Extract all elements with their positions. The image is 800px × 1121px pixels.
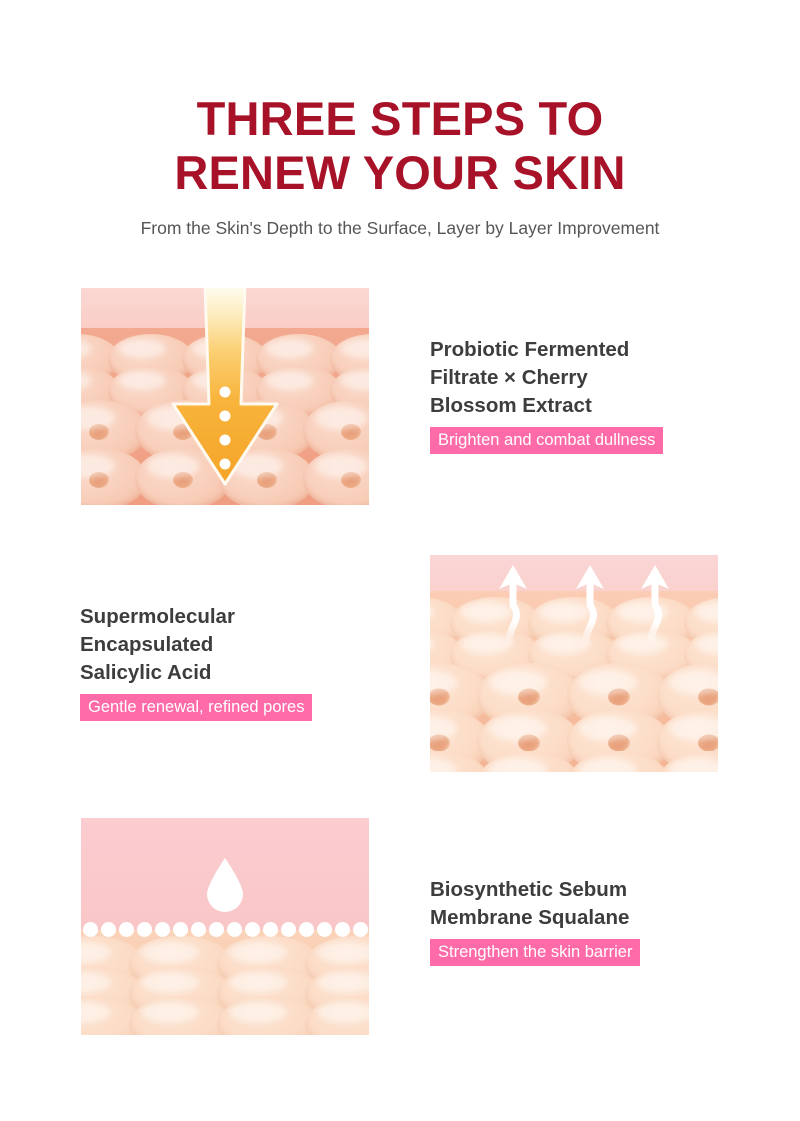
page-title-line-2: RENEW YOUR SKIN [0, 146, 800, 200]
step-3-heading: Biosynthetic Sebum Membrane Squalane [430, 876, 730, 932]
step-2-heading: Supermolecular Encapsulated Salicylic Ac… [80, 603, 380, 687]
page-title-line-1: THREE STEPS TO [0, 92, 800, 146]
wavy-arrows-up-icon [430, 555, 718, 772]
step-3-illustration [81, 818, 369, 1035]
step-3-badge: Strengthen the skin barrier [430, 939, 640, 966]
step-2-text-block: Supermolecular Encapsulated Salicylic Ac… [80, 603, 380, 721]
page-subtitle: From the Skin's Depth to the Surface, La… [0, 217, 800, 239]
step-2-illustration [430, 555, 718, 772]
step-1-illustration [81, 288, 369, 505]
step-2-badge: Gentle renewal, refined pores [80, 694, 312, 721]
arrow-down-icon [161, 288, 289, 505]
step-1-heading: Probiotic Fermented Filtrate × Cherry Bl… [430, 336, 730, 420]
page-header: THREE STEPS TO RENEW YOUR SKIN From the … [0, 92, 800, 239]
step-1-badge: Brighten and combat dullness [430, 427, 663, 454]
water-droplet-icon [203, 856, 247, 912]
skin-barrier-row [81, 922, 369, 937]
step-3-text-block: Biosynthetic Sebum Membrane Squalane Str… [430, 876, 730, 966]
step-1-text-block: Probiotic Fermented Filtrate × Cherry Bl… [430, 336, 730, 454]
cell-row [81, 996, 369, 1035]
